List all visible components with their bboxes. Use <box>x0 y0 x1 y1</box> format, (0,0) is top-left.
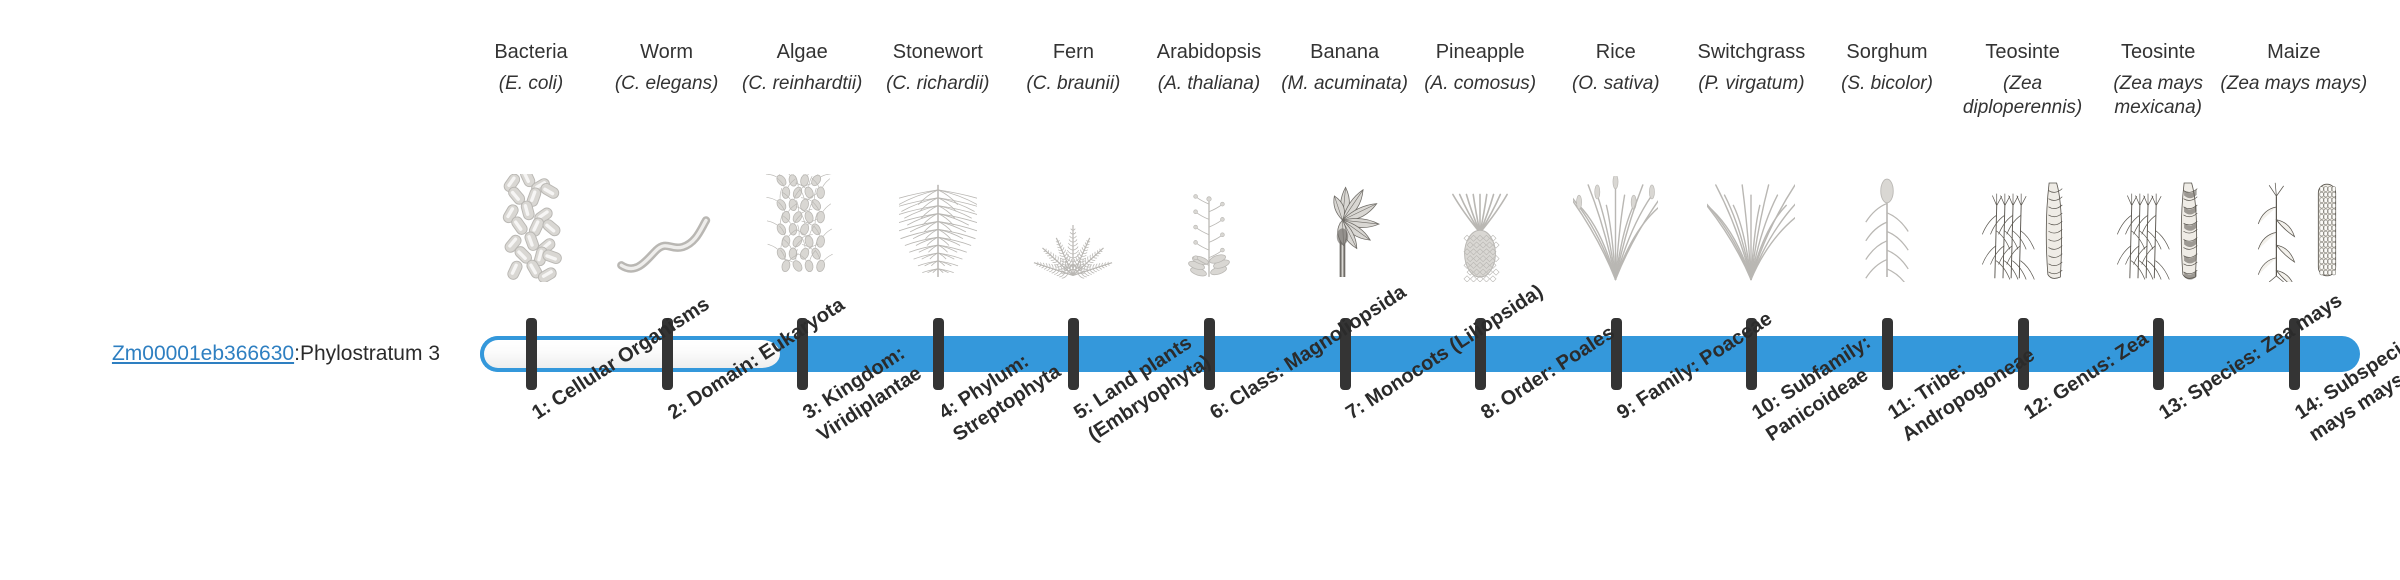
phylostratum-tick-1[interactable] <box>526 318 537 390</box>
species-common-name: Maize <box>2214 40 2374 64</box>
stonewort-icon <box>862 172 1014 282</box>
bacteria-icon <box>455 172 607 282</box>
gene-label: Zm00001eb366630: Phylostratum 3 <box>40 336 440 372</box>
banana-icon <box>1269 172 1421 282</box>
algae-icon <box>726 172 878 282</box>
teosinte-diplo-icon <box>1947 172 2099 282</box>
switchgrass-icon <box>1675 172 1827 282</box>
fern-icon <box>997 172 1149 282</box>
rice-icon <box>1540 172 1692 282</box>
teosinte-mexicana-icon <box>2082 172 2234 282</box>
phylostratum-value: Phylostratum 3 <box>300 341 440 366</box>
arabidopsis-icon <box>1133 172 1285 282</box>
worm-icon <box>591 172 743 282</box>
pineapple-icon <box>1404 172 1556 282</box>
phylostratum-figure: Zm00001eb366630: Phylostratum 3 Bacteria… <box>0 0 2400 580</box>
maize-icon <box>2218 172 2370 282</box>
sorghum-icon <box>1811 172 1963 282</box>
species-scientific-name: (Zea mays mays) <box>2214 72 2374 96</box>
gene-id-link[interactable]: Zm00001eb366630 <box>112 341 294 366</box>
